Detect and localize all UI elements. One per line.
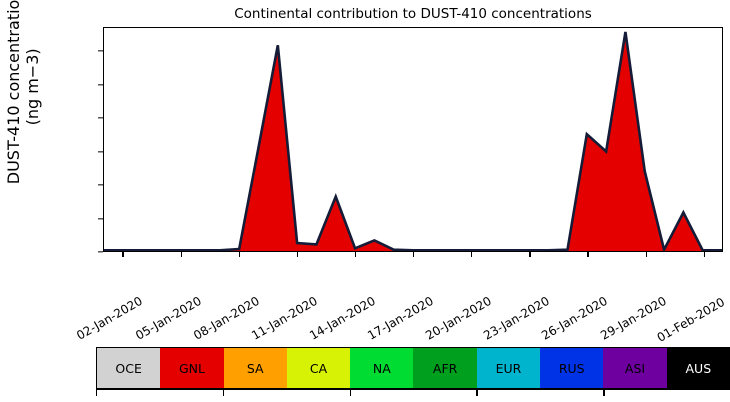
x-tick-mark	[587, 252, 588, 257]
legend-item-label: SA	[247, 361, 264, 376]
legend-item-na[interactable]: NA	[350, 348, 413, 388]
chart-root: Continental contribution to DUST-410 con…	[0, 0, 730, 402]
legend-item-label: GNL	[179, 361, 205, 376]
legend-item-aus[interactable]: AUS	[667, 348, 730, 388]
x-tick-mark	[122, 252, 123, 257]
y-axis-label-line2: (ng m−3)	[23, 48, 42, 125]
legend-item-gnl[interactable]: GNL	[160, 348, 223, 388]
legend-tick-mark	[350, 389, 351, 396]
legend-item-sa[interactable]: SA	[224, 348, 287, 388]
x-tick-mark	[239, 252, 240, 257]
legend-item-oce[interactable]: OCE	[97, 348, 160, 388]
x-tick-mark	[529, 252, 530, 257]
legend-item-label: RUS	[559, 361, 585, 376]
legend-item-label: AUS	[686, 361, 712, 376]
legend-tick-mark	[476, 389, 477, 396]
legend-item-label: EUR	[496, 361, 522, 376]
legend-item-rus[interactable]: RUS	[540, 348, 603, 388]
area-series-svg	[104, 28, 722, 251]
x-tick-mark	[181, 252, 182, 257]
legend-item-label: CA	[310, 361, 327, 376]
x-tick-label: 05-Jan-2020	[133, 294, 204, 343]
x-tick-mark	[297, 252, 298, 257]
x-tick-mark	[646, 252, 647, 257]
page-title: Continental contribution to DUST-410 con…	[103, 6, 723, 22]
x-tick-label: 02-Jan-2020	[74, 294, 145, 343]
legend-item-label: NA	[373, 361, 391, 376]
legend-tick-mark	[223, 389, 224, 396]
legend-item-ca[interactable]: CA	[287, 348, 350, 388]
x-tick-mark	[704, 252, 705, 257]
legend-bottom-rule	[96, 389, 730, 390]
legend-tick-mark	[603, 389, 604, 396]
legend-item-asi[interactable]: ASI	[603, 348, 666, 388]
legend-item-eur[interactable]: EUR	[477, 348, 540, 388]
x-tick-label: 26-Jan-2020	[539, 294, 610, 343]
y-axis-label-line1: DUST-410 concentration	[4, 0, 23, 184]
x-tick-mark	[471, 252, 472, 257]
x-tick-mark	[413, 252, 414, 257]
legend-item-label: AFR	[433, 361, 457, 376]
y-axis-label: DUST-410 concentration (ng m−3)	[5, 0, 43, 207]
legend-item-label: ASI	[625, 361, 645, 376]
plot-area	[103, 27, 723, 252]
legend-item-afr[interactable]: AFR	[413, 348, 476, 388]
legend-tick-mark	[96, 389, 97, 396]
legend-item-label: OCE	[115, 361, 141, 376]
legend: OCEGNLSACANAAFREURRUSASIAUS	[96, 347, 730, 389]
x-tick-mark	[355, 252, 356, 257]
